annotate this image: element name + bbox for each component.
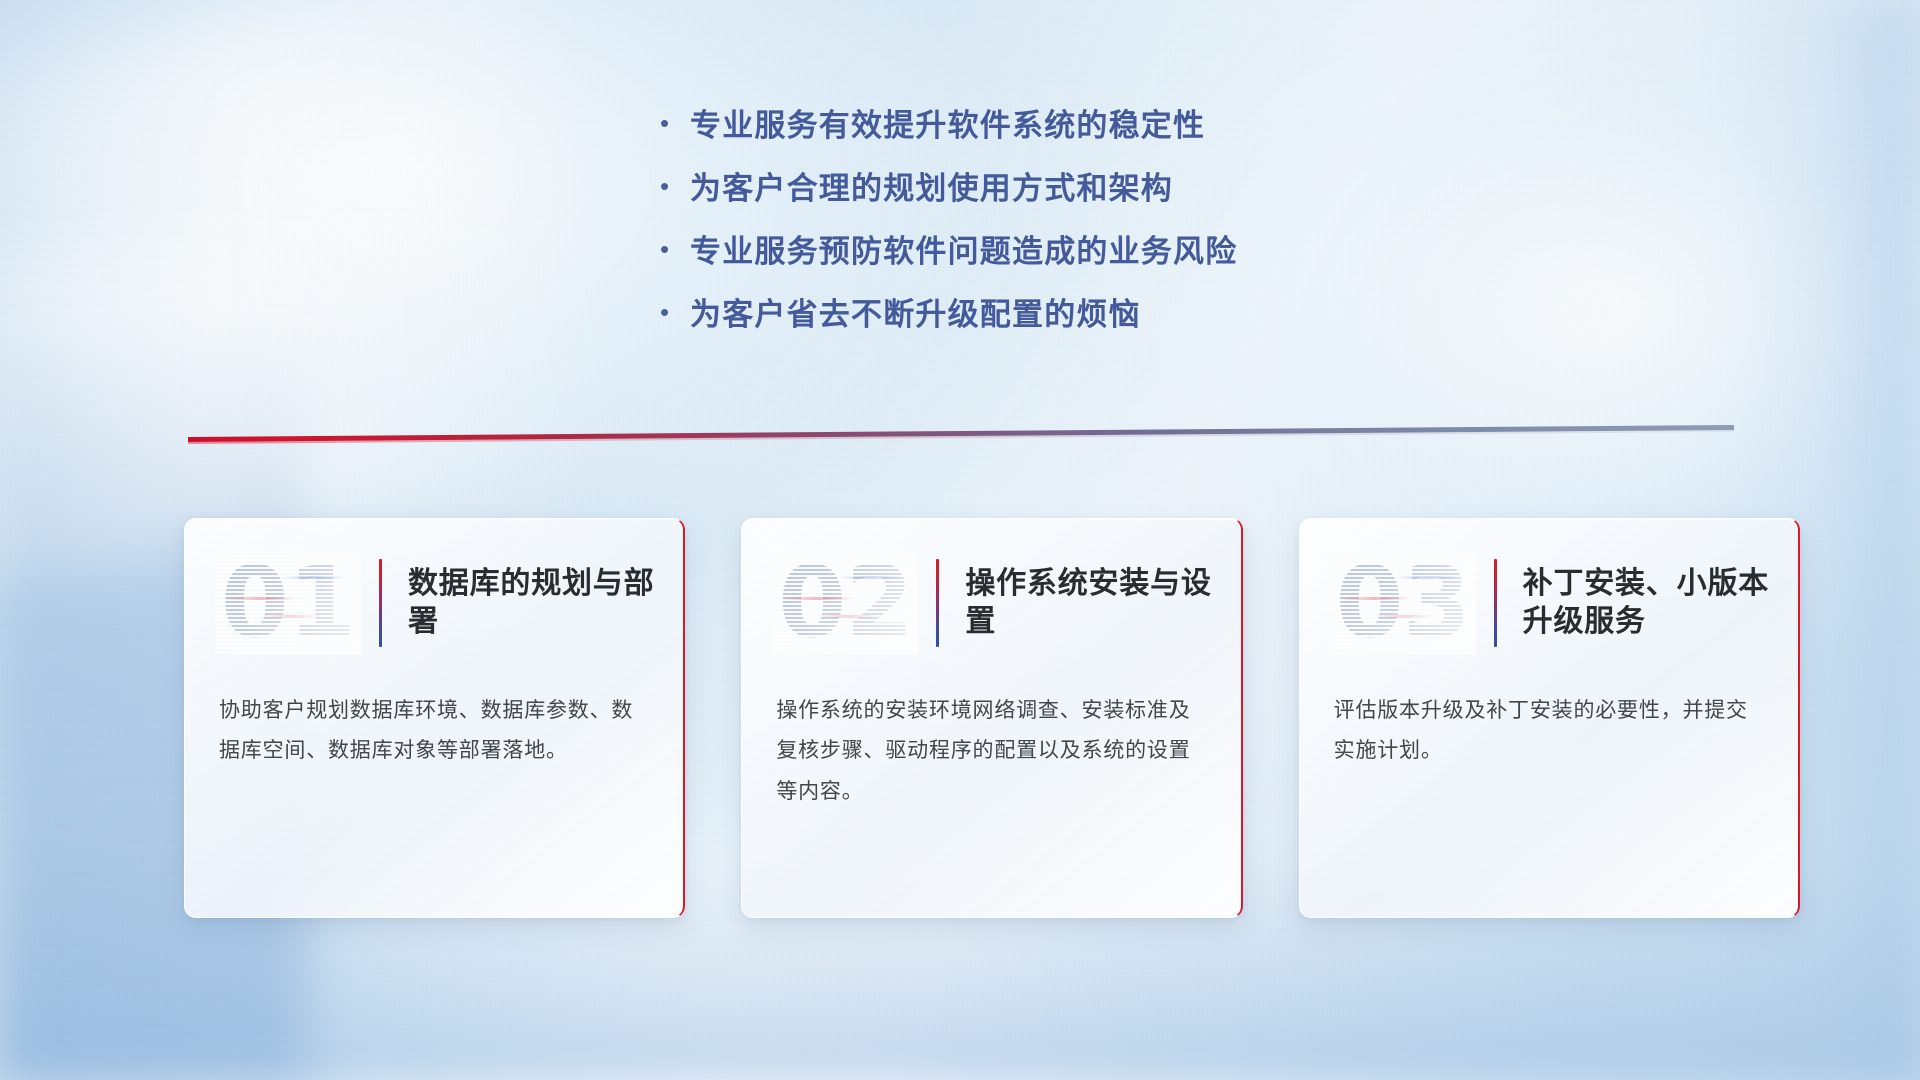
benefits-bullet-list: • 专业服务有效提升软件系统的稳定性 • 为客户合理的规划使用方式和架构 • 专…	[660, 108, 1237, 333]
bullet-text: 专业服务有效提升软件系统的稳定性	[690, 108, 1205, 144]
bullet-text: 为客户合理的规划使用方式和架构	[690, 171, 1173, 207]
card-title: 操作系统安装与设置	[965, 565, 1240, 642]
card-number-text: 03	[1330, 551, 1476, 655]
list-item: • 专业服务预防软件问题造成的业务风险	[660, 234, 1237, 270]
bullet-dot-icon: •	[660, 299, 690, 325]
list-item: • 为客户合理的规划使用方式和架构	[660, 171, 1237, 207]
list-item: • 专业服务有效提升软件系统的稳定性	[660, 108, 1237, 144]
card-accent-rule	[936, 559, 939, 647]
bullet-dot-icon: •	[660, 173, 690, 199]
card-number-watermark: 01	[215, 551, 361, 655]
card-number-text: 01	[215, 551, 361, 655]
bullet-text: 专业服务预防软件问题造成的业务风险	[690, 234, 1237, 270]
section-divider	[188, 425, 1734, 447]
bullet-text: 为客户省去不断升级配置的烦恼	[690, 297, 1141, 333]
card-number-watermark: 03	[1330, 551, 1476, 655]
card-title: 数据库的规划与部署	[408, 565, 683, 642]
service-card-03[interactable]: 03 补丁安装、小版本升级服务 评估版本升级及补丁安装的必要性，并提交实施计划。	[1299, 518, 1800, 918]
card-number-text: 02	[772, 551, 918, 655]
bullet-dot-icon: •	[660, 110, 690, 136]
card-header: 02 操作系统安装与设置	[742, 519, 1240, 687]
card-header: 03 补丁安装、小版本升级服务	[1300, 519, 1798, 687]
card-body-text: 操作系统的安装环境网络调查、安装标准及复核步骤、驱动程序的配置以及系统的设置等内…	[742, 687, 1240, 812]
card-body-text: 评估版本升级及补丁安装的必要性，并提交实施计划。	[1300, 687, 1798, 772]
list-item: • 为客户省去不断升级配置的烦恼	[660, 297, 1237, 333]
card-accent-rule	[1494, 559, 1497, 647]
card-title: 补丁安装、小版本升级服务	[1523, 565, 1798, 642]
card-header: 01 数据库的规划与部署	[185, 519, 683, 687]
divider-shape	[188, 425, 1734, 447]
card-body-text: 协助客户规划数据库环境、数据库参数、数据库空间、数据库对象等部署落地。	[185, 687, 683, 772]
service-card-row: 01 数据库的规划与部署 协助客户规划数据库环境、数据库参数、数据库空间、数据库…	[184, 518, 1800, 918]
card-number-watermark: 02	[772, 551, 918, 655]
card-accent-rule	[379, 559, 382, 647]
bullet-dot-icon: •	[660, 236, 690, 262]
service-card-01[interactable]: 01 数据库的规划与部署 协助客户规划数据库环境、数据库参数、数据库空间、数据库…	[184, 518, 685, 918]
service-card-02[interactable]: 02 操作系统安装与设置 操作系统的安装环境网络调查、安装标准及复核步骤、驱动程…	[741, 518, 1242, 918]
